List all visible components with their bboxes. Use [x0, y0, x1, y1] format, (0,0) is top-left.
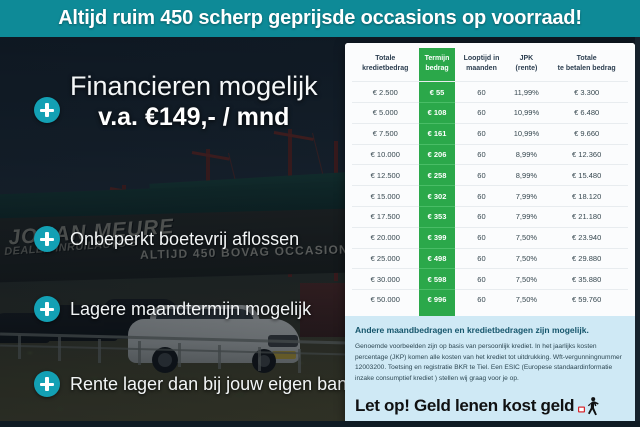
card-footer: Andere maandbedragen en kredietbedragen …	[345, 316, 635, 423]
table-cell-termijn-bedrag: € 206	[419, 144, 456, 165]
table-cell: 60	[455, 248, 507, 269]
table-cell: € 6.480	[545, 103, 628, 124]
table-row: € 30.000€ 598607,50%€ 35.880	[352, 269, 628, 290]
table-cell-termijn-bedrag: € 399	[419, 227, 456, 248]
table-cell: € 20.000	[352, 227, 419, 248]
table-cell-termijn-bedrag: € 302	[419, 186, 456, 207]
table-cell: € 21.180	[545, 206, 628, 227]
table-cell-termijn-bedrag: € 55	[419, 82, 456, 103]
feature-item-maandtermijn: Lagere maandtermijn mogelijk	[34, 296, 311, 322]
table-cell: 60	[455, 186, 507, 207]
table-row: € 15.000€ 302607,99%€ 18.120	[352, 186, 628, 207]
table-row: € 2.500€ 556011,99%€ 3.300	[352, 82, 628, 103]
feature-item-financieren: Financieren mogelijk v.a. €149,- / mnd	[34, 71, 318, 133]
table-cell: 11,99%	[508, 82, 546, 103]
table-cell-termijn-bedrag: € 498	[419, 248, 456, 269]
financing-headline: Financieren mogelijk	[70, 71, 318, 102]
table-cell: 10,99%	[508, 123, 546, 144]
table-cell: € 15.000	[352, 186, 419, 207]
table-cell: € 29.880	[545, 248, 628, 269]
footer-disclaimer: Genoemde voorbeelden zijn op basis van p…	[355, 342, 625, 385]
advertisement-banner: JOHAN MEURE DEALER INRUILAUTO'S ALTIJD 4…	[0, 0, 640, 427]
table-column-header: Totalekredietbedrag	[352, 48, 419, 82]
table-cell: € 23.940	[545, 227, 628, 248]
right-edge-strip	[635, 37, 640, 427]
table-cell: € 15.480	[545, 165, 628, 186]
feature-label: Rente lager dan bij jouw eigen bank	[70, 374, 356, 395]
table-row: € 5.000€ 1086010,99%€ 6.480	[352, 103, 628, 124]
table-cell: 7,99%	[508, 186, 546, 207]
plus-icon	[34, 371, 60, 397]
table-cell: 7,50%	[508, 248, 546, 269]
table-cell: 60	[455, 269, 507, 290]
table-cell-termijn-bedrag: € 108	[419, 103, 456, 124]
table-column-header: JPK(rente)	[508, 48, 546, 82]
table-cell: € 30.000	[352, 269, 419, 290]
table-cell-termijn-bedrag: € 161	[419, 123, 456, 144]
table-cell: 7,50%	[508, 269, 546, 290]
table-row: € 17.500€ 353607,99%€ 21.180	[352, 206, 628, 227]
bottom-strip	[0, 421, 640, 427]
table-cell: € 35.880	[545, 269, 628, 290]
table-cell: 60	[455, 82, 507, 103]
table-cell-termijn-bedrag: € 353	[419, 206, 456, 227]
table-cell: € 18.120	[545, 186, 628, 207]
table-cell: 7,50%	[508, 290, 546, 310]
table-cell: € 50.000	[352, 290, 419, 310]
table-cell: 10,99%	[508, 103, 546, 124]
walking-man-warning-icon	[578, 396, 600, 416]
highlight-column-tail	[419, 307, 456, 316]
table-cell: 7,50%	[508, 227, 546, 248]
table-column-header: Looptijd inmaanden	[455, 48, 507, 82]
plus-icon	[34, 97, 60, 123]
table-cell: 60	[455, 123, 507, 144]
rate-table-header: TotalekredietbedragTermijnbedragLooptijd…	[352, 48, 628, 82]
table-cell: € 17.500	[352, 206, 419, 227]
table-row: € 50.000€ 996607,50%€ 59.760	[352, 290, 628, 310]
table-cell: 60	[455, 290, 507, 310]
rate-table-body: € 2.500€ 556011,99%€ 3.300€ 5.000€ 10860…	[352, 82, 628, 310]
table-cell: 60	[455, 103, 507, 124]
table-row: € 7.500€ 1616010,99%€ 9.660	[352, 123, 628, 144]
table-cell: € 3.300	[545, 82, 628, 103]
table-cell: 8,99%	[508, 144, 546, 165]
feature-label: Lagere maandtermijn mogelijk	[70, 299, 311, 320]
table-row: € 12.500€ 258608,99%€ 15.480	[352, 165, 628, 186]
table-cell: € 12.360	[545, 144, 628, 165]
feature-label: Onbeperkt boetevrij aflossen	[70, 229, 299, 250]
headline-bar: Altijd ruim 450 scherp geprijsde occasio…	[0, 0, 640, 37]
footer-heading: Andere maandbedragen en kredietbedragen …	[355, 325, 625, 336]
table-cell-termijn-bedrag: € 258	[419, 165, 456, 186]
table-cell: € 12.500	[352, 165, 419, 186]
table-cell: € 7.500	[352, 123, 419, 144]
table-row: € 10.000€ 206608,99%€ 12.360	[352, 144, 628, 165]
table-header-row: TotalekredietbedragTermijnbedragLooptijd…	[352, 48, 628, 82]
warning-text: Let op! Geld lenen kost geld	[355, 396, 574, 416]
financing-price: v.a. €149,- / mnd	[70, 102, 318, 133]
table-cell: € 9.660	[545, 123, 628, 144]
table-column-header: Termijnbedrag	[419, 48, 456, 82]
plus-icon	[34, 296, 60, 322]
headline-text: Altijd ruim 450 scherp geprijsde occasio…	[58, 7, 582, 30]
table-column-header: Totalete betalen bedrag	[545, 48, 628, 82]
table-cell: € 10.000	[352, 144, 419, 165]
plus-icon	[34, 226, 60, 252]
financing-text-block: Financieren mogelijk v.a. €149,- / mnd	[70, 71, 318, 133]
feature-list: Financieren mogelijk v.a. €149,- / mnd O…	[0, 37, 346, 427]
rate-table: TotalekredietbedragTermijnbedragLooptijd…	[352, 48, 628, 310]
table-row: € 25.000€ 498607,50%€ 29.880	[352, 248, 628, 269]
feature-item-aflossen: Onbeperkt boetevrij aflossen	[34, 226, 299, 252]
feature-item-rente: Rente lager dan bij jouw eigen bank	[34, 371, 356, 397]
table-cell: € 59.760	[545, 290, 628, 310]
table-cell: 8,99%	[508, 165, 546, 186]
table-cell: € 25.000	[352, 248, 419, 269]
table-cell: 60	[455, 144, 507, 165]
table-cell: 7,99%	[508, 206, 546, 227]
table-cell: € 5.000	[352, 103, 419, 124]
table-cell: 60	[455, 165, 507, 186]
warning-row: Let op! Geld lenen kost geld	[355, 389, 625, 416]
rate-table-container: TotalekredietbedragTermijnbedragLooptijd…	[345, 43, 635, 316]
table-cell: 60	[455, 206, 507, 227]
table-cell: 60	[455, 227, 507, 248]
table-cell-termijn-bedrag: € 598	[419, 269, 456, 290]
table-row: € 20.000€ 399607,50%€ 23.940	[352, 227, 628, 248]
financing-info-card: TotalekredietbedragTermijnbedragLooptijd…	[345, 43, 635, 423]
table-cell: € 2.500	[352, 82, 419, 103]
